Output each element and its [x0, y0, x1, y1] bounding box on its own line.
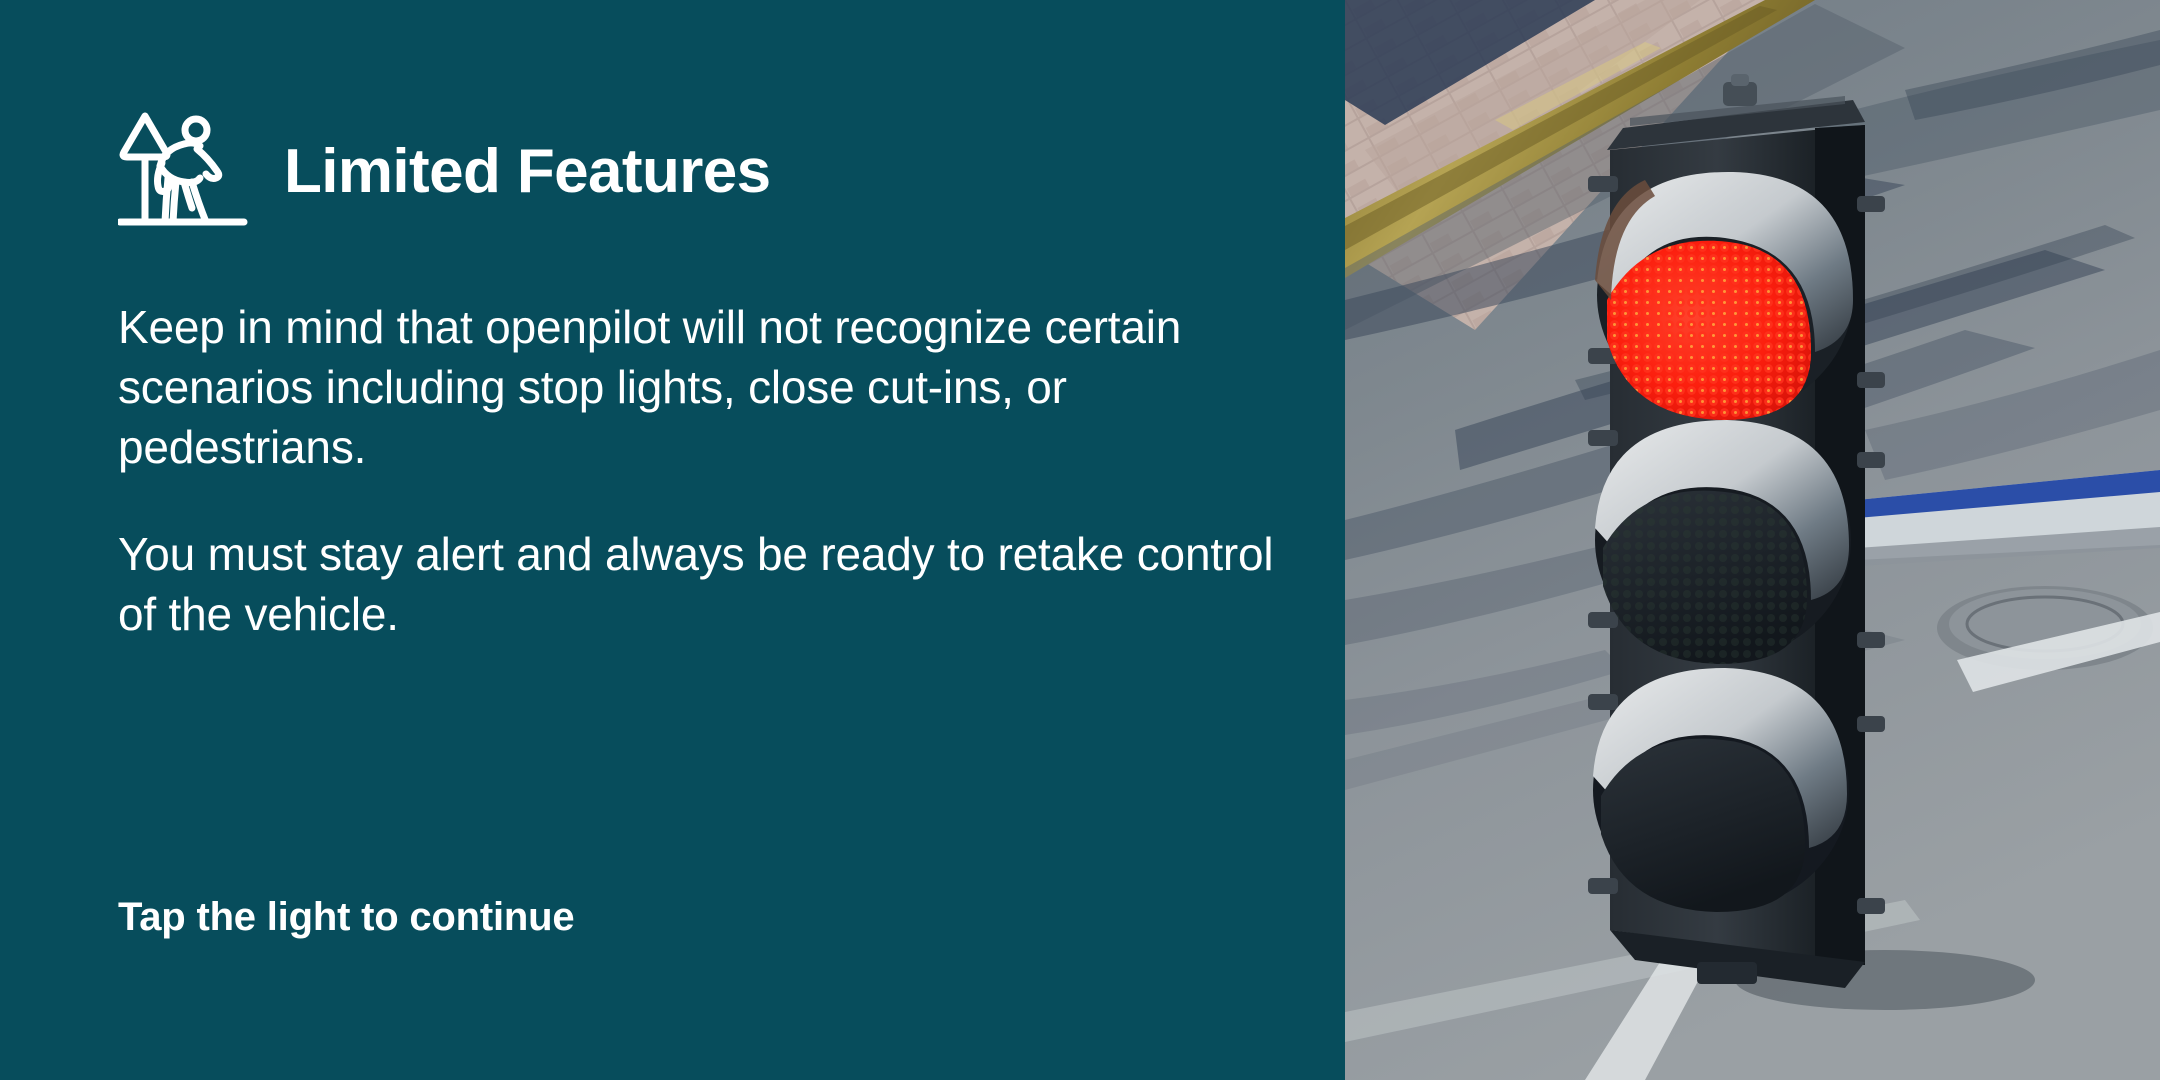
limited-features-screen: Limited Features Keep in mind that openp… — [0, 0, 2160, 1080]
pedestrian-crossing-sign-icon — [118, 108, 250, 236]
body-paragraph-2: You must stay alert and always be ready … — [118, 525, 1278, 645]
body-paragraph-1: Keep in mind that openpilot will not rec… — [118, 298, 1278, 477]
tap-to-continue-label[interactable]: Tap the light to continue — [118, 895, 574, 940]
traffic-light-scene — [1345, 0, 2160, 1080]
panel-body: Keep in mind that openpilot will not rec… — [118, 298, 1345, 645]
panel-header: Limited Features — [118, 112, 1345, 232]
page-title: Limited Features — [284, 141, 771, 203]
traffic-light-photo[interactable] — [1345, 0, 2160, 1080]
traffic-light-green-lamp — [1593, 668, 1849, 912]
info-panel: Limited Features Keep in mind that openp… — [0, 0, 1345, 1080]
